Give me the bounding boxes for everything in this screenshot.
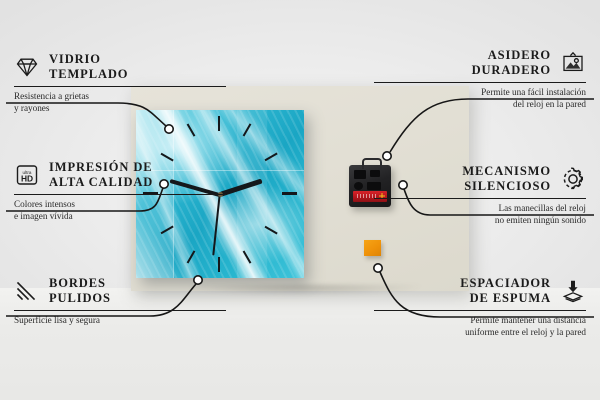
feature-divider — [14, 86, 226, 87]
feature-desc-line1: Permite mantener una distancia — [374, 315, 586, 327]
feature-mecanismo-silencioso: MECANISMO SILENCIOSO Las manecillas del … — [374, 164, 586, 226]
diagonal-lines-icon — [14, 278, 40, 304]
gear-icon — [560, 166, 586, 192]
feature-desc-line2: del reloj en la pared — [374, 99, 586, 111]
feature-espaciador-de-espuma: ESPACIADOR DE ESPUMA Permite mantener un… — [374, 276, 586, 338]
feature-vidrio-templado: VIDRIO TEMPLADO Resistencia a grietas y … — [14, 52, 226, 114]
press-down-layers-icon — [560, 278, 586, 304]
feature-desc-line2: uniforme entre el reloj y la pared — [374, 327, 586, 339]
diamond-icon — [14, 54, 40, 80]
feature-impresion-alta-calidad: ultra HD IMPRESIÓN DE ALTA CALIDAD Color… — [14, 160, 226, 222]
feature-title-line2: DURADERO — [472, 63, 551, 78]
feature-desc-line1: Las manecillas del reloj — [374, 203, 586, 215]
feature-asidero-duradero: ASIDERO DURADERO Permite una fácil insta… — [374, 48, 586, 110]
feature-divider — [374, 310, 586, 311]
feature-desc-line2: no emiten ningún sonido — [374, 215, 586, 227]
feature-title-line2: TEMPLADO — [49, 67, 128, 82]
connector-dot-vidrio — [165, 125, 173, 133]
feature-title-line1: ESPACIADOR — [460, 276, 551, 291]
feature-title-line2: PULIDOS — [49, 291, 111, 306]
feature-title-line1: MECANISMO — [462, 164, 551, 179]
connector-dot-espaciador — [374, 264, 382, 272]
feature-divider — [14, 194, 226, 195]
feature-desc-line1: Permite una fácil instalación — [374, 87, 586, 99]
feature-desc-line2: y rayones — [14, 103, 226, 115]
svg-text:HD: HD — [21, 173, 33, 183]
hanging-picture-icon — [560, 50, 586, 76]
feature-desc-line1: Resistencia a grietas — [14, 91, 226, 103]
feature-title-line2: DE ESPUMA — [460, 291, 551, 306]
connector-dot-asidero — [383, 152, 391, 160]
feature-title-line1: ASIDERO — [472, 48, 551, 63]
ultra-hd-icon: ultra HD — [14, 162, 40, 188]
feature-title-line2: SILENCIOSO — [462, 179, 551, 194]
feature-bordes-pulidos: BORDES PULIDOS Superficie lisa y segura — [14, 276, 226, 327]
feature-divider — [374, 198, 586, 199]
infographic-canvas: VIDRIO TEMPLADO Resistencia a grietas y … — [0, 0, 600, 400]
feature-desc-line2: e imagen vívida — [14, 211, 226, 223]
feature-title-line1: VIDRIO — [49, 52, 128, 67]
feature-title-line1: BORDES — [49, 276, 111, 291]
feature-title-line1: IMPRESIÓN DE — [49, 160, 153, 175]
feature-divider — [14, 310, 226, 311]
feature-title-line2: ALTA CALIDAD — [49, 175, 153, 190]
feature-desc-line1: Superficie lisa y segura — [14, 315, 226, 327]
feature-divider — [374, 82, 586, 83]
feature-desc-line1: Colores intensos — [14, 199, 226, 211]
